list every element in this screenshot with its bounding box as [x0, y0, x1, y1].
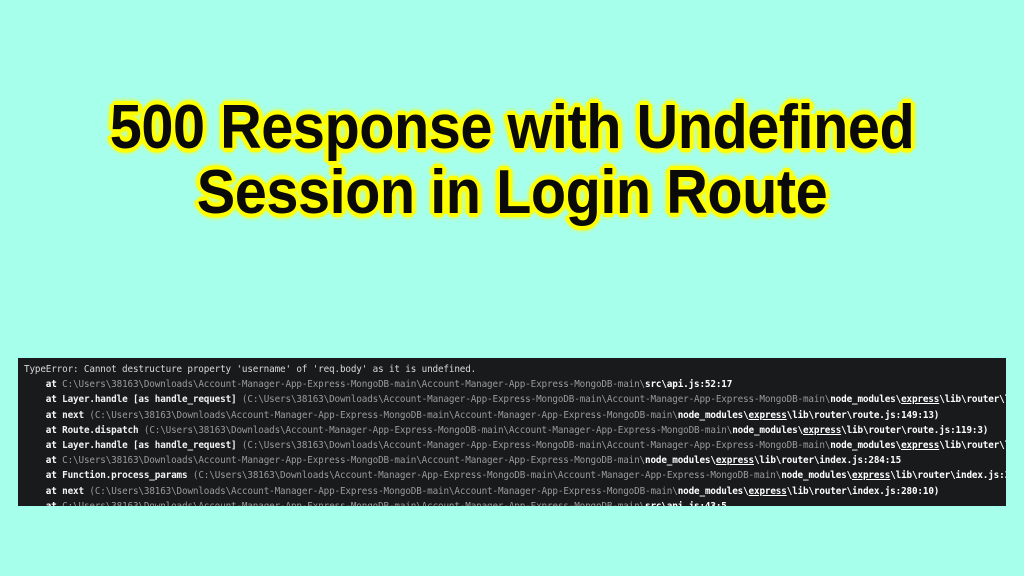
terminal-output: TypeError: Cannot destructure property '… [18, 362, 1006, 506]
page-root: 500 Response with Undefined Session in L… [0, 0, 1024, 576]
terminal-stack-frame-line: at Route.dispatch (C:\Users\38163\Downlo… [18, 423, 1006, 438]
stack-frame-path-prefix: (C:\Users\38163\Downloads\Account-Manage… [89, 410, 677, 421]
path-segment: src\api.js:52:17 [645, 379, 732, 390]
terminal-stack-frame-line: at C:\Users\38163\Downloads\Account-Mana… [18, 377, 1006, 392]
stack-frame-at-keyword: at [46, 486, 57, 497]
stack-frame-at-keyword: at [46, 394, 57, 405]
stack-frame-path-prefix: C:\Users\38163\Downloads\Account-Manager… [62, 379, 645, 390]
path-segment-express: express [749, 486, 787, 497]
path-segment-node-modules: node_modules [781, 470, 846, 481]
path-segment: \lib\router\index.js:280:10) [787, 486, 940, 497]
path-segment-express: express [901, 394, 939, 405]
terminal-stacktrace-panel[interactable]: TypeError: Cannot destructure property '… [18, 358, 1006, 506]
terminal-error-header-line: TypeError: Cannot destructure property '… [18, 362, 1006, 377]
path-segment: \lib\router\layer.js:95:5) [939, 440, 1006, 451]
indent [24, 440, 46, 451]
terminal-error-message: TypeError: Cannot destructure property '… [24, 364, 476, 375]
stack-frame-at-keyword: at [46, 455, 57, 466]
stack-frame-function-name: Layer.handle [as handle_request] [62, 394, 236, 405]
path-segment-node-modules: node_modules [678, 486, 743, 497]
path-segment-express: express [901, 440, 939, 451]
path-segment-express: express [852, 470, 890, 481]
terminal-stack-frame-line: at Layer.handle [as handle_request] (C:\… [18, 438, 1006, 453]
indent [24, 394, 46, 405]
stack-frame-function-name: next [62, 410, 84, 421]
page-title-line-1: 500 Response with Undefined [36, 96, 988, 161]
stack-frame-path-prefix: (C:\Users\38163\Downloads\Account-Manage… [242, 440, 830, 451]
stack-frame-at-keyword: at [46, 440, 57, 451]
terminal-stack-frame-line: at next (C:\Users\38163\Downloads\Accoun… [18, 408, 1006, 423]
indent [24, 501, 46, 506]
indent [24, 455, 46, 466]
page-title-line-2: Session in Login Route [36, 161, 988, 226]
stack-frame-path-prefix: C:\Users\38163\Downloads\Account-Manager… [62, 501, 645, 506]
stack-frame-at-keyword: at [46, 410, 57, 421]
stack-frame-path-prefix: (C:\Users\38163\Downloads\Account-Manage… [144, 425, 732, 436]
path-segment-node-modules: node_modules [830, 394, 895, 405]
path-segment: \lib\router\route.js:119:3) [841, 425, 988, 436]
path-segment-node-modules: node_modules [645, 455, 710, 466]
indent [24, 470, 46, 481]
stack-frame-at-keyword: at [46, 425, 57, 436]
terminal-stack-frame-line: at Layer.handle [as handle_request] (C:\… [18, 392, 1006, 407]
stack-frame-path-prefix: (C:\Users\38163\Downloads\Account-Manage… [242, 394, 830, 405]
terminal-stack-frame-line: at C:\Users\38163\Downloads\Account-Mana… [18, 499, 1006, 506]
path-segment-node-modules: node_modules [830, 440, 895, 451]
indent [24, 425, 46, 436]
indent [24, 410, 46, 421]
indent [24, 486, 46, 497]
path-segment-node-modules: node_modules [678, 410, 743, 421]
stack-frame-function-name: Layer.handle [as handle_request] [62, 440, 236, 451]
path-segment: src\api.js:43:5 [645, 501, 727, 506]
path-segment: \lib\router\layer.js:95:5) [939, 394, 1006, 405]
path-segment-node-modules: node_modules [732, 425, 797, 436]
path-segment: \lib\router\index.js:284:15 [754, 455, 901, 466]
path-segment: \lib\router\index.js:346:12) [890, 470, 1006, 481]
stack-frame-at-keyword: at [46, 379, 57, 390]
terminal-stack-frame-line: at Function.process_params (C:\Users\381… [18, 468, 1006, 483]
stack-frame-at-keyword: at [46, 470, 57, 481]
stack-frame-function-name: Function.process_params [62, 470, 187, 481]
terminal-stack-frame-line: at C:\Users\38163\Downloads\Account-Mana… [18, 453, 1006, 468]
stack-frame-function-name: Route.dispatch [62, 425, 138, 436]
terminal-stack-frame-line: at next (C:\Users\38163\Downloads\Accoun… [18, 484, 1006, 499]
stack-frame-path-prefix: (C:\Users\38163\Downloads\Account-Manage… [193, 470, 781, 481]
stack-frame-at-keyword: at [46, 501, 57, 506]
page-title: 500 Response with Undefined Session in L… [0, 96, 1024, 226]
stack-frame-function-name: next [62, 486, 84, 497]
path-segment-express: express [749, 410, 787, 421]
stack-frame-path-prefix: (C:\Users\38163\Downloads\Account-Manage… [89, 486, 677, 497]
indent [24, 379, 46, 390]
path-segment: \lib\router\route.js:149:13) [787, 410, 940, 421]
path-segment-express: express [716, 455, 754, 466]
stack-frame-path-prefix: C:\Users\38163\Downloads\Account-Manager… [62, 455, 645, 466]
path-segment-express: express [803, 425, 841, 436]
